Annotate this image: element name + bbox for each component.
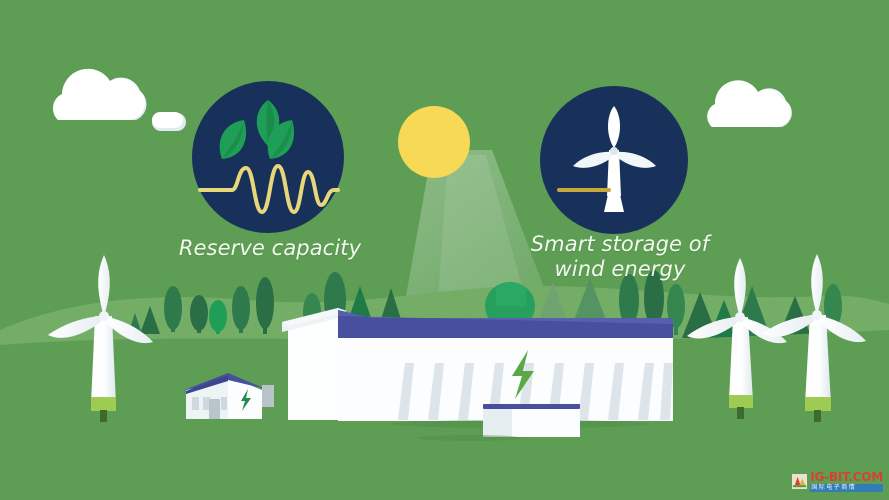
caption-smart-storage: Smart storage of wind energy [505,232,735,282]
ig-bit-watermark: IG-BIT.COM 国际电子商情 [792,471,883,492]
watermark-logo-icon [792,474,807,489]
watermark-domain: IG-BIT.COM [810,471,883,483]
illustration-canvas: Reserve capacity Smart storage of wind e… [0,0,889,500]
wind-turbine-right-back[interactable] [687,258,787,419]
caption-reserve-capacity: Reserve capacity [160,236,380,261]
facility-roof [338,310,673,340]
watermark-subtitle: 国际电子商情 [810,484,883,492]
substation-house[interactable] [182,373,266,419]
landscape-layer [0,0,889,500]
battery-storage-building[interactable] [262,308,673,428]
wind-turbine-left[interactable] [48,255,153,422]
